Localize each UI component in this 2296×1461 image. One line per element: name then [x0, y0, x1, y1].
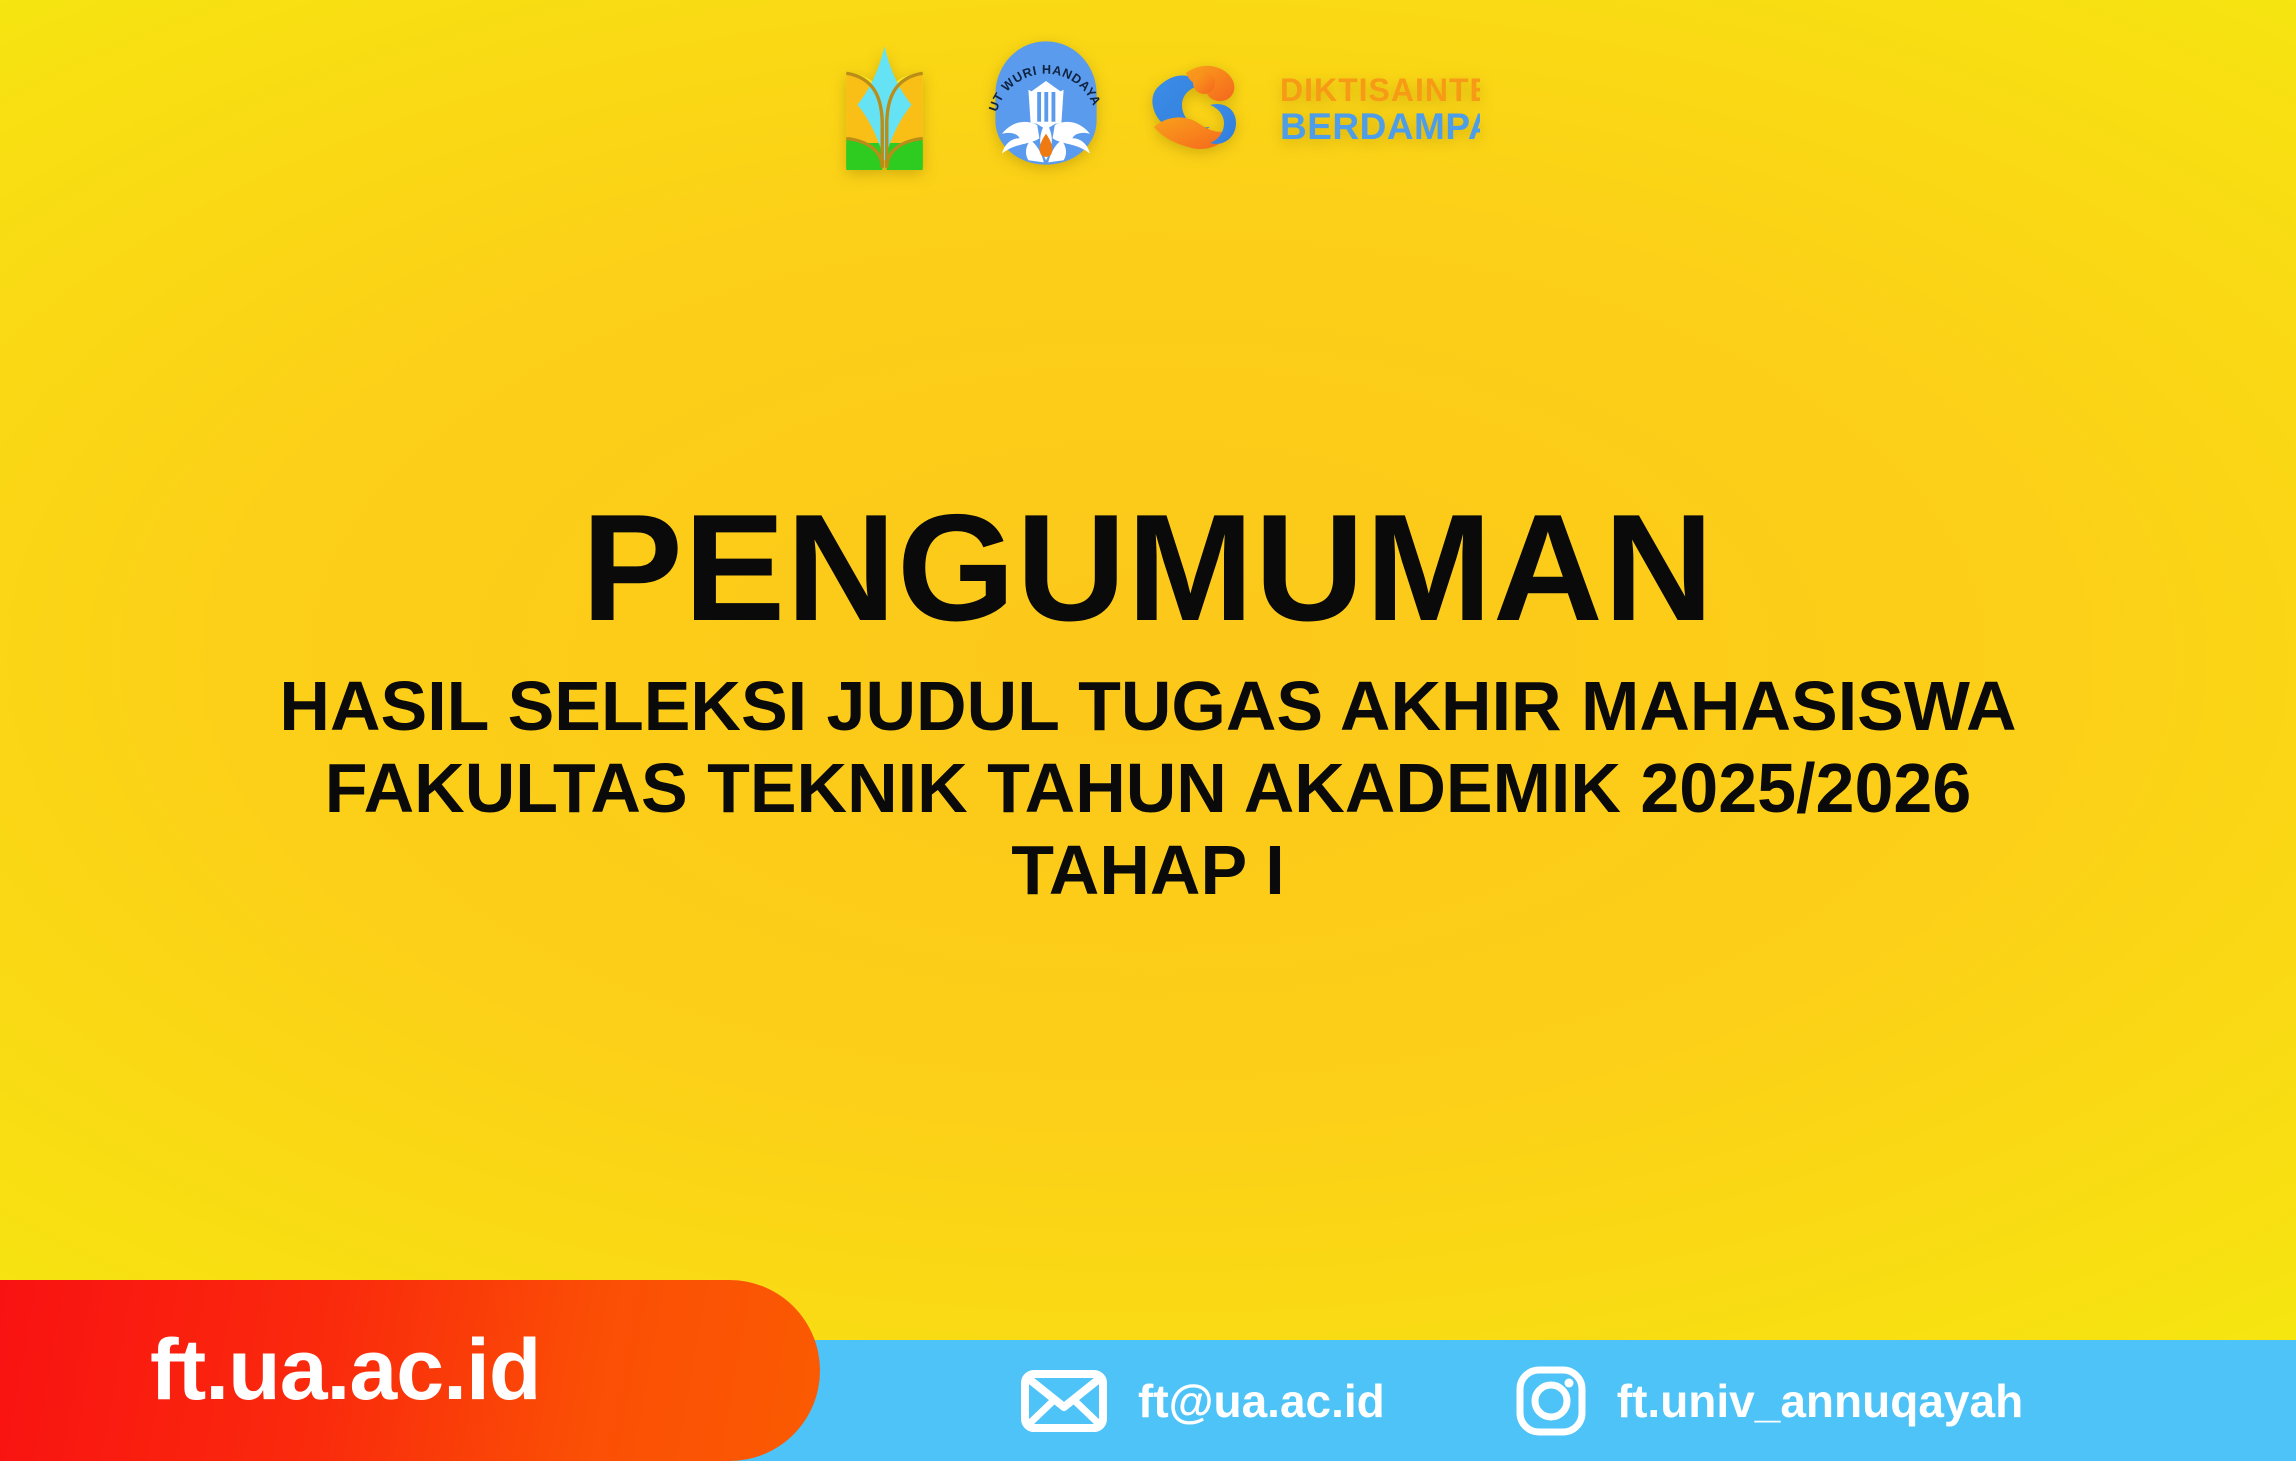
- instagram-icon: [1515, 1365, 1587, 1437]
- diktisaintek-wordmark-line1: DIKTISAINTEK: [1280, 72, 1480, 108]
- email-label: ft@ua.ac.id: [1138, 1374, 1385, 1428]
- subtitle-line-2: FAKULTAS TEKNIK TAHUN AKADEMIK 2025/2026: [0, 748, 2296, 830]
- footer-contacts: ft@ua.ac.id ft.univ_annuqayah: [1020, 1340, 2023, 1461]
- website-tab[interactable]: ft.ua.ac.id: [0, 1280, 820, 1461]
- headline-block: PENGUMUMAN HASIL SELEKSI JUDUL TUGAS AKH…: [0, 492, 2296, 912]
- subtitle-line-3: TAHAP I: [0, 830, 2296, 912]
- envelope-icon: [1020, 1369, 1108, 1433]
- diktisaintek-wordmark-line2: BERDAMPAK: [1280, 106, 1480, 147]
- contact-instagram[interactable]: ft.univ_annuqayah: [1515, 1365, 2023, 1437]
- subtitle-line-1: HASIL SELEKSI JUDUL TUGAS AKHIR MAHASISW…: [0, 666, 2296, 748]
- announcement-poster: TUT WURI HANDAYANI: [0, 0, 2296, 1461]
- logo-row: TUT WURI HANDAYANI: [0, 30, 2296, 175]
- tut-wuri-handayani-emblem: TUT WURI HANDAYANI: [980, 37, 1112, 169]
- website-label: ft.ua.ac.id: [150, 1321, 540, 1420]
- instagram-label: ft.univ_annuqayah: [1617, 1374, 2023, 1428]
- diktisaintek-berdampak-logo: DIKTISAINTEK BERDAMPAK: [1140, 43, 1480, 163]
- contact-email[interactable]: ft@ua.ac.id: [1020, 1369, 1385, 1433]
- universitas-annuqayah-tulip-logo: [817, 35, 952, 170]
- page-title: PENGUMUMAN: [0, 492, 2296, 644]
